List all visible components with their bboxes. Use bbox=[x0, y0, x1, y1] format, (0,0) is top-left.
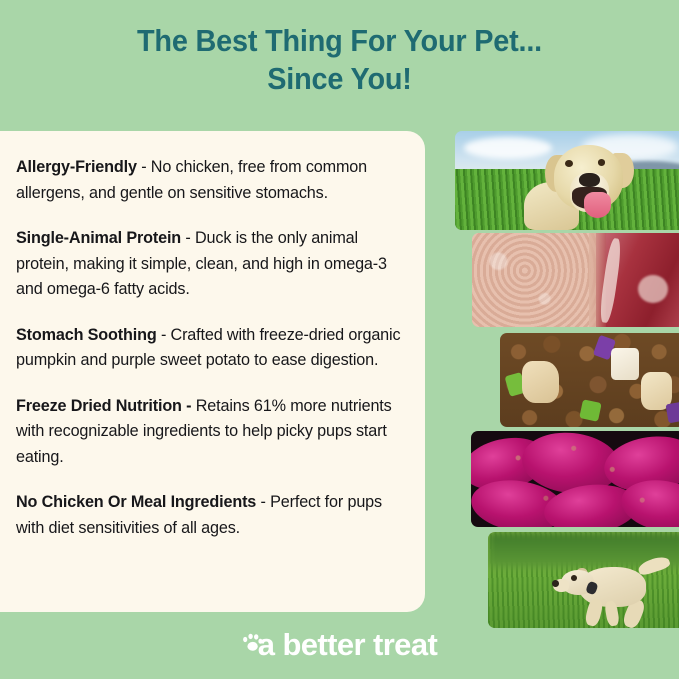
freeze-dried-chunk bbox=[611, 348, 639, 380]
benefit-item: No Chicken Or Meal Ingredients - Perfect… bbox=[16, 490, 403, 541]
dog-eye-shape bbox=[565, 160, 573, 167]
soil-speckle-overlay bbox=[471, 431, 679, 527]
benefit-term: Stomach Soothing bbox=[16, 326, 157, 344]
cloud-shape bbox=[464, 137, 551, 159]
benefit-item: Freeze Dried Nutrition - Retains 61% mor… bbox=[16, 394, 403, 471]
paw-print-icon bbox=[242, 630, 262, 660]
benefit-term: No Chicken Or Meal Ingredients bbox=[16, 493, 256, 511]
freeze-dried-chunk bbox=[522, 361, 559, 403]
kibble-treats-photo bbox=[500, 333, 679, 427]
puppy-eye-shape bbox=[571, 575, 577, 581]
benefit-item: Stomach Soothing - Crafted with freeze-d… bbox=[16, 323, 403, 374]
running-puppy-photo bbox=[488, 532, 679, 628]
benefit-item: Single-Animal Protein - Duck is the only… bbox=[16, 226, 403, 303]
duck-skin-region bbox=[472, 233, 604, 327]
puppy-nose-shape bbox=[552, 580, 559, 587]
benefit-item: Allergy-Friendly - No chicken, free from… bbox=[16, 155, 403, 206]
brand-logo: a better treat bbox=[0, 620, 679, 670]
headline-line-2: Since You! bbox=[24, 60, 655, 98]
benefit-term: Allergy-Friendly bbox=[16, 158, 137, 176]
dog-in-grass-photo bbox=[455, 131, 679, 230]
dog-eye-shape bbox=[598, 159, 606, 166]
page-headline: The Best Thing For Your Pet... Since You… bbox=[24, 22, 655, 98]
headline-line-1: The Best Thing For Your Pet... bbox=[24, 22, 655, 60]
benefit-term: Freeze Dried Nutrition - bbox=[16, 397, 191, 415]
benefits-card: Allergy-Friendly - No chicken, free from… bbox=[0, 131, 425, 612]
raw-duck-meat-photo bbox=[472, 233, 679, 327]
dog-nose-shape bbox=[579, 173, 600, 188]
purple-sweet-potato-photo bbox=[471, 431, 679, 527]
brand-name: a better treat bbox=[258, 628, 437, 662]
benefit-term: Single-Animal Protein bbox=[16, 229, 181, 247]
